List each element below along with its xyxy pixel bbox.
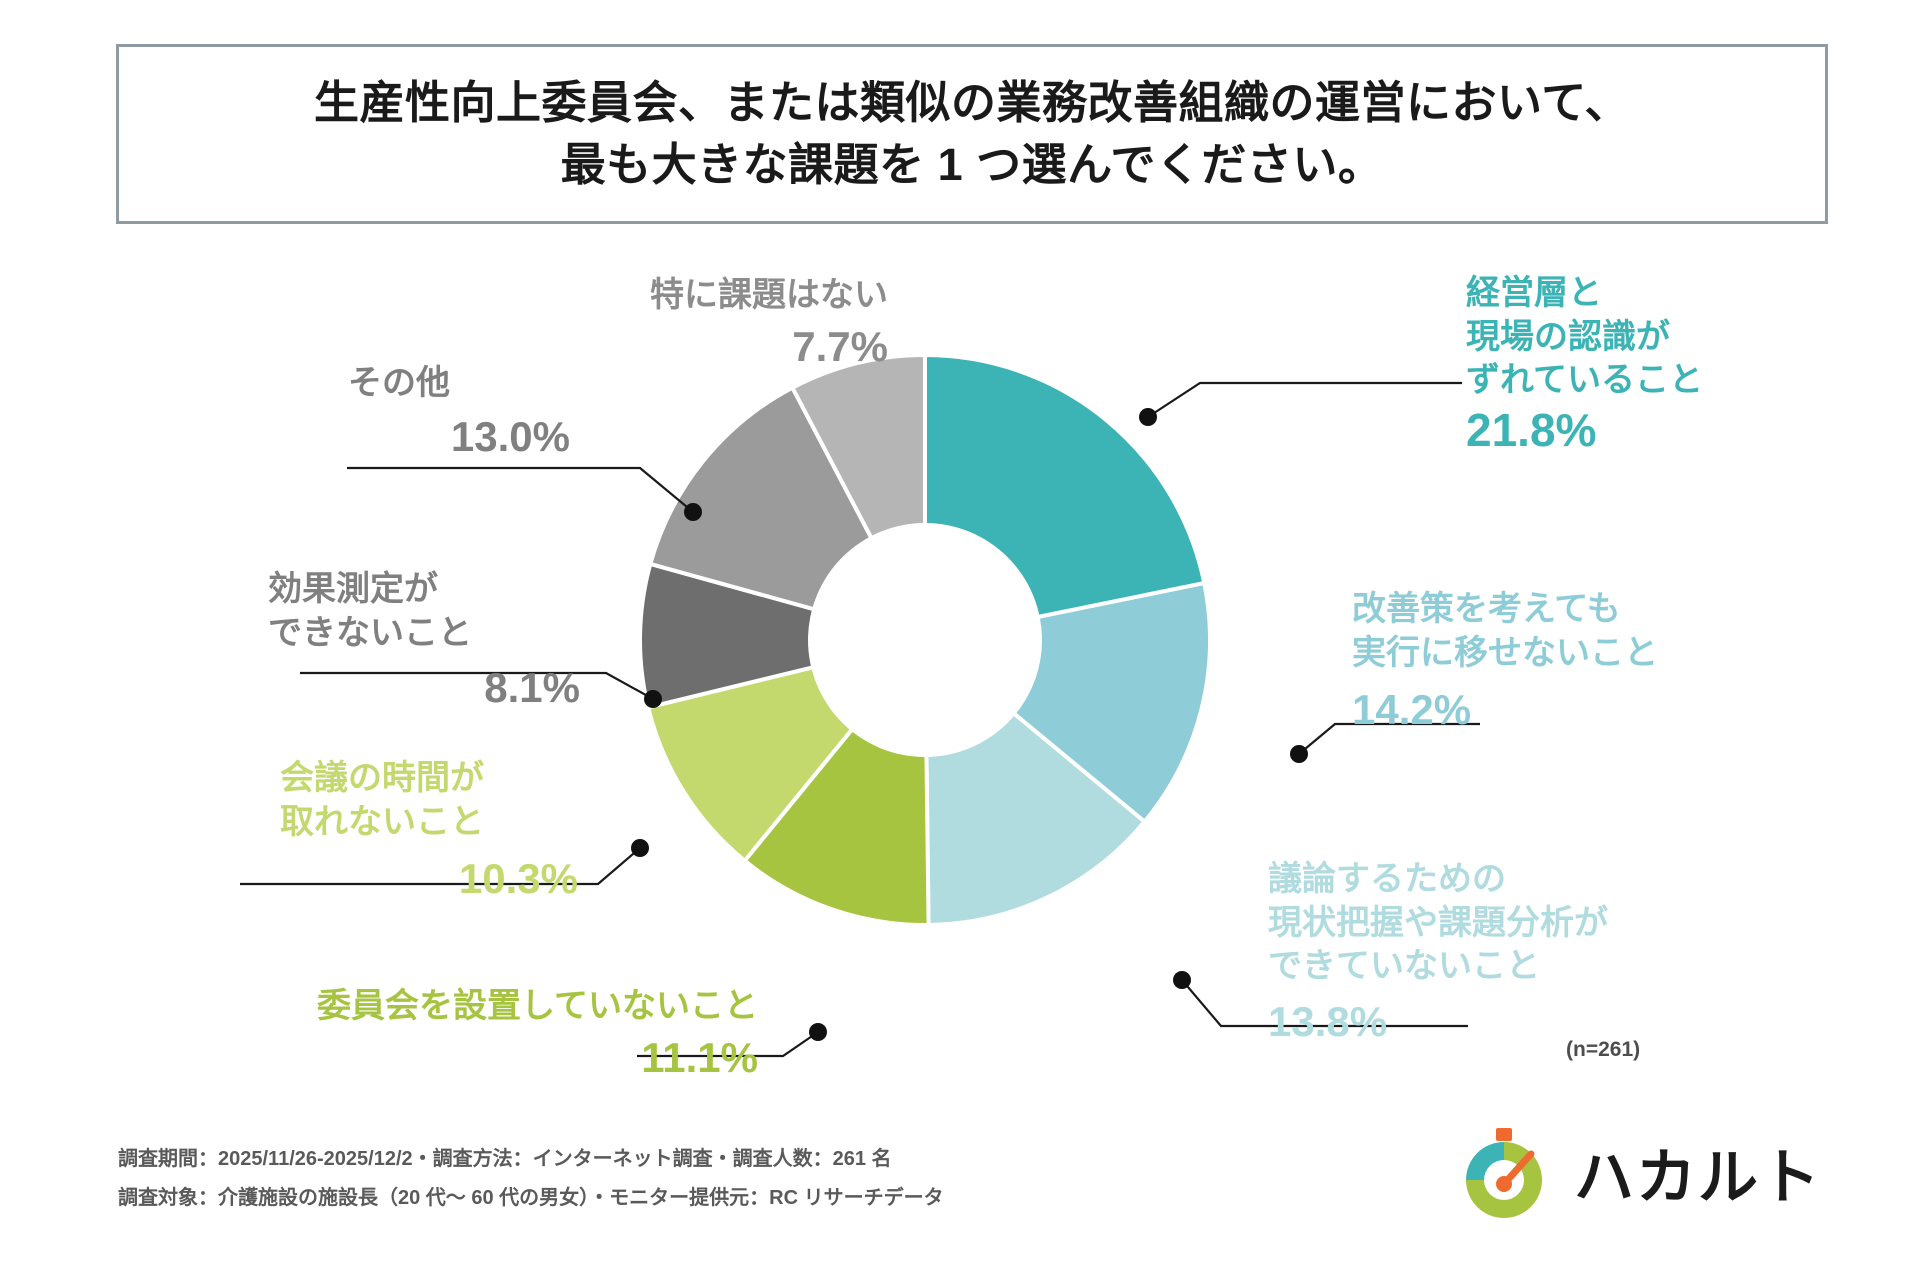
callout-kaizensaku-line-2: 実行に移せないこと [1352,632,1658,676]
stopwatch-icon [1448,1122,1560,1234]
callout-girontame-line-1: 議論するための [1268,858,1608,902]
question-title-box: 生産性向上委員会、または類似の業務改善組織の運営において、 最も大きな課題を 1… [116,44,1828,224]
survey-footnote: 調査期間：2025/11/26-2025/12/2・調査方法：インターネット調査… [118,1140,944,1218]
callout-kaigi: 会議の時間が 取れないこと 10.3% [128,757,578,904]
callout-kaigi-line-2: 取れないこと [128,801,578,845]
donut-chart [640,355,1210,925]
callout-iinkai: 委員会を設置していないこと 11.1% [118,985,758,1083]
callout-nashi-percent: 7.7% [452,322,888,372]
callout-nashi: 特に課題はない 7.7% [452,274,888,372]
callout-girontame-line-3: できていないこと [1268,945,1608,989]
callout-keieisou-line-3: ずれていること [1466,359,1703,403]
survey-footnote-line-2: 調査対象：介護施設の施設長（20 代～ 60 代の男女）・モニター提供元：RC … [118,1179,944,1218]
leader-dot-iinkai [809,1023,827,1041]
callout-kaigi-percent: 10.3% [128,854,578,904]
question-title-line-1: 生産性向上委員会、または類似の業務改善組織の運営において、 [314,72,1630,134]
callout-kaizensaku-percent: 14.2% [1352,685,1658,735]
callout-girontame-percent: 13.8% [1268,997,1608,1047]
callout-kouka: 効果測定が できないこと 8.1% [190,568,580,713]
callout-kouka-line-2: できないこと [190,612,580,656]
callout-kaizensaku-line-1: 改善策を考えても [1352,588,1658,632]
callout-iinkai-line-1: 委員会を設置していないこと [118,985,758,1029]
callout-kaigi-line-1: 会議の時間が [128,757,578,801]
callout-girontame-line-2: 現状把握や課題分析が [1268,902,1608,946]
callout-nashi-line-1: 特に課題はない [452,274,888,318]
donut-chart-svg [640,355,1210,925]
callout-kaizensaku: 改善策を考えても 実行に移せないこと 14.2% [1352,588,1658,735]
callout-keieisou-line-1: 経営層と [1466,272,1703,316]
callout-kouka-line-1: 効果測定が [190,568,580,612]
question-title-line-2: 最も大きな課題を 1 つ選んでください。 [561,134,1384,196]
sample-size-note: (n=261) [1566,1038,1640,1062]
callout-girontame: 議論するための 現状把握や課題分析が できていないこと 13.8% [1268,858,1608,1047]
brand-logo-text: ハカルト [1574,1148,1822,1208]
callout-sonota: その他 13.0% [196,362,570,462]
leader-dot-kaizensaku [1290,745,1308,763]
survey-footnote-line-1: 調査期間：2025/11/26-2025/12/2・調査方法：インターネット調査… [118,1140,944,1179]
callout-keieisou-percent: 21.8% [1466,403,1703,458]
callout-keieisou-line-2: 現場の認識が [1466,316,1703,360]
donut-hole [808,523,1042,757]
callout-kouka-percent: 8.1% [190,663,580,713]
callout-keieisou: 経営層と 現場の認識が ずれていること 21.8% [1466,272,1703,458]
leader-dot-girontame [1173,971,1191,989]
infographic-root: 生産性向上委員会、または類似の業務改善組織の運営において、 最も大きな課題を 1… [0,0,1920,1280]
brand-logo: ハカルト [1448,1122,1822,1234]
callout-sonota-percent: 13.0% [196,412,570,462]
callout-iinkai-percent: 11.1% [118,1033,758,1083]
